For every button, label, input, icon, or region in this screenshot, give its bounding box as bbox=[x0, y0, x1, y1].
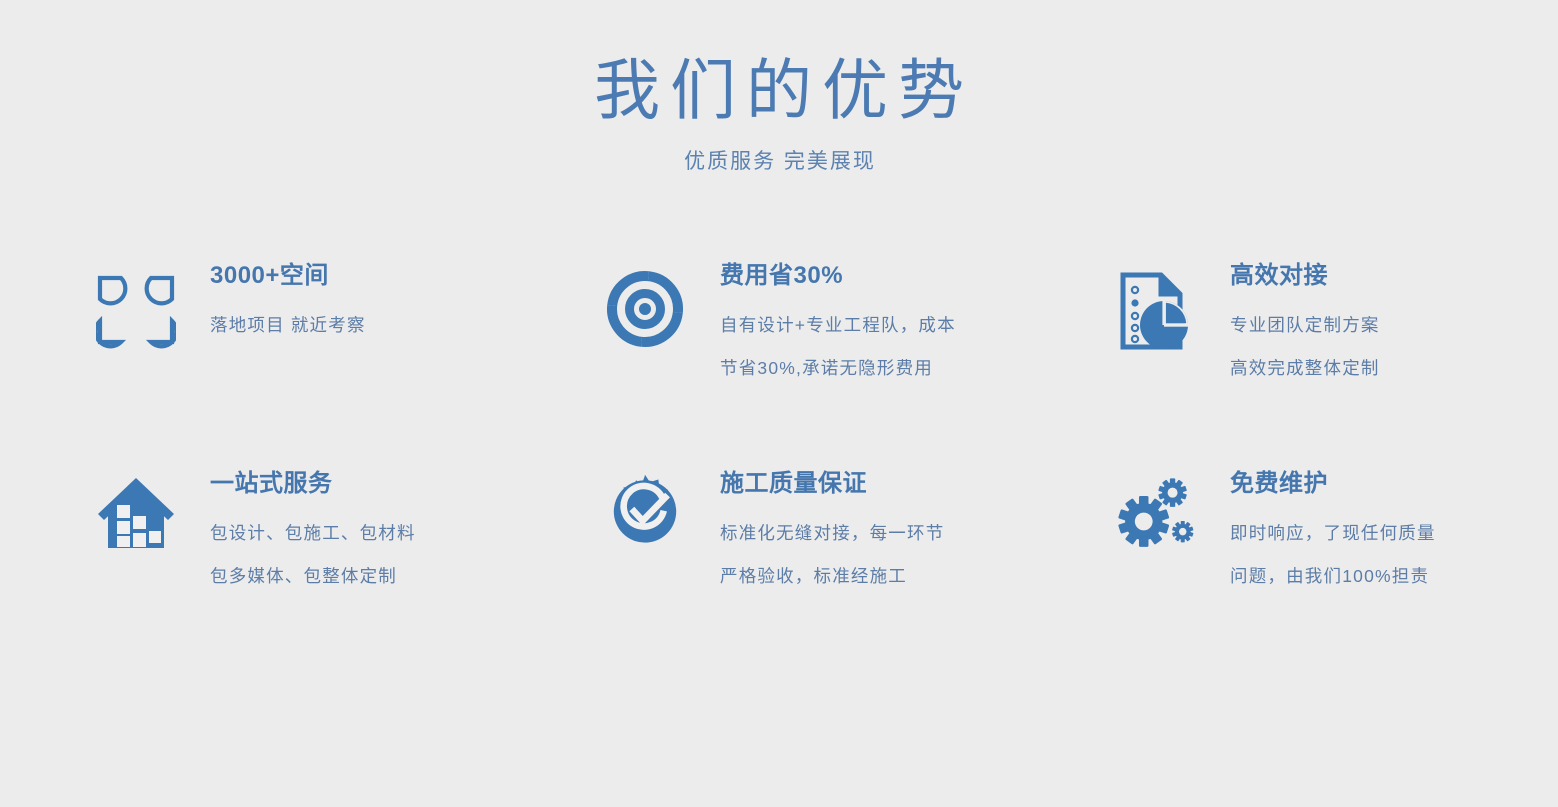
description-line: 高效完成整体定制 bbox=[1230, 347, 1380, 390]
page-subtitle: 优质服务 完美展现 bbox=[0, 145, 1558, 175]
description-line: 标准化无缝对接，每一环节 bbox=[720, 512, 944, 555]
house-icon bbox=[96, 474, 182, 560]
description-line: 严格验收，标准经施工 bbox=[720, 555, 944, 598]
feature-title: 3000+空间 bbox=[210, 262, 366, 290]
description-line: 自有设计+专业工程队，成本 bbox=[720, 304, 956, 347]
description-line: 节省30%,承诺无隐形费用 bbox=[720, 347, 956, 390]
feature-grid: 3000+空间 落地项目 就近考察 bbox=[0, 262, 1558, 678]
feature-text: 一站式服务 包设计、包施工、包材料 包多媒体、包整体定制 bbox=[182, 470, 416, 598]
feature-description: 落地项目 就近考察 bbox=[210, 304, 366, 347]
description-line: 问题，由我们100%担责 bbox=[1230, 555, 1436, 598]
description-line: 专业团队定制方案 bbox=[1230, 304, 1380, 347]
section-header: 我们的优势 优质服务 完美展现 bbox=[0, 0, 1558, 175]
feature-text: 免费维护 即时响应，了现任何质量 问题，由我们100%担责 bbox=[1202, 470, 1436, 598]
feature-item-cost-saving: 费用省30% 自有设计+专业工程队，成本 节省30%,承诺无隐形费用 bbox=[606, 262, 1116, 470]
feature-title: 施工质量保证 bbox=[720, 470, 944, 498]
gears-icon bbox=[1116, 474, 1202, 560]
description-line: 包多媒体、包整体定制 bbox=[210, 555, 416, 598]
feature-title: 一站式服务 bbox=[210, 470, 416, 498]
description-line: 即时响应，了现任何质量 bbox=[1230, 512, 1436, 555]
feature-description: 专业团队定制方案 高效完成整体定制 bbox=[1230, 304, 1380, 390]
feature-text: 费用省30% 自有设计+专业工程队，成本 节省30%,承诺无隐形费用 bbox=[692, 262, 956, 390]
feature-title: 免费维护 bbox=[1230, 470, 1436, 498]
description-line: 包设计、包施工、包材料 bbox=[210, 512, 416, 555]
feature-title: 费用省30% bbox=[720, 262, 956, 290]
feature-description: 标准化无缝对接，每一环节 严格验收，标准经施工 bbox=[720, 512, 944, 598]
badge-check-icon bbox=[606, 474, 692, 560]
document-pie-chart-icon bbox=[1116, 270, 1202, 356]
feature-description: 包设计、包施工、包材料 包多媒体、包整体定制 bbox=[210, 512, 416, 598]
feature-description: 即时响应，了现任何质量 问题，由我们100%担责 bbox=[1230, 512, 1436, 598]
target-icon bbox=[606, 270, 692, 356]
feature-item-free-maintenance: 免费维护 即时响应，了现任何质量 问题，由我们100%担责 bbox=[1116, 470, 1558, 678]
feature-description: 自有设计+专业工程队，成本 节省30%,承诺无隐形费用 bbox=[720, 304, 956, 390]
feature-item-space: 3000+空间 落地项目 就近考察 bbox=[96, 262, 606, 470]
description-line: 落地项目 就近考察 bbox=[210, 304, 366, 347]
feature-text: 施工质量保证 标准化无缝对接，每一环节 严格验收，标准经施工 bbox=[692, 470, 944, 598]
four-petals-icon bbox=[96, 270, 182, 356]
feature-item-one-stop-service: 一站式服务 包设计、包施工、包材料 包多媒体、包整体定制 bbox=[96, 470, 606, 678]
feature-text: 3000+空间 落地项目 就近考察 bbox=[182, 262, 366, 347]
page-title: 我们的优势 bbox=[0, 56, 1558, 125]
feature-item-efficient-handover: 高效对接 专业团队定制方案 高效完成整体定制 bbox=[1116, 262, 1558, 470]
feature-item-quality-guarantee: 施工质量保证 标准化无缝对接，每一环节 严格验收，标准经施工 bbox=[606, 470, 1116, 678]
feature-title: 高效对接 bbox=[1230, 262, 1380, 290]
feature-text: 高效对接 专业团队定制方案 高效完成整体定制 bbox=[1202, 262, 1380, 390]
advantages-section: 我们的优势 优质服务 完美展现 bbox=[0, 0, 1558, 807]
